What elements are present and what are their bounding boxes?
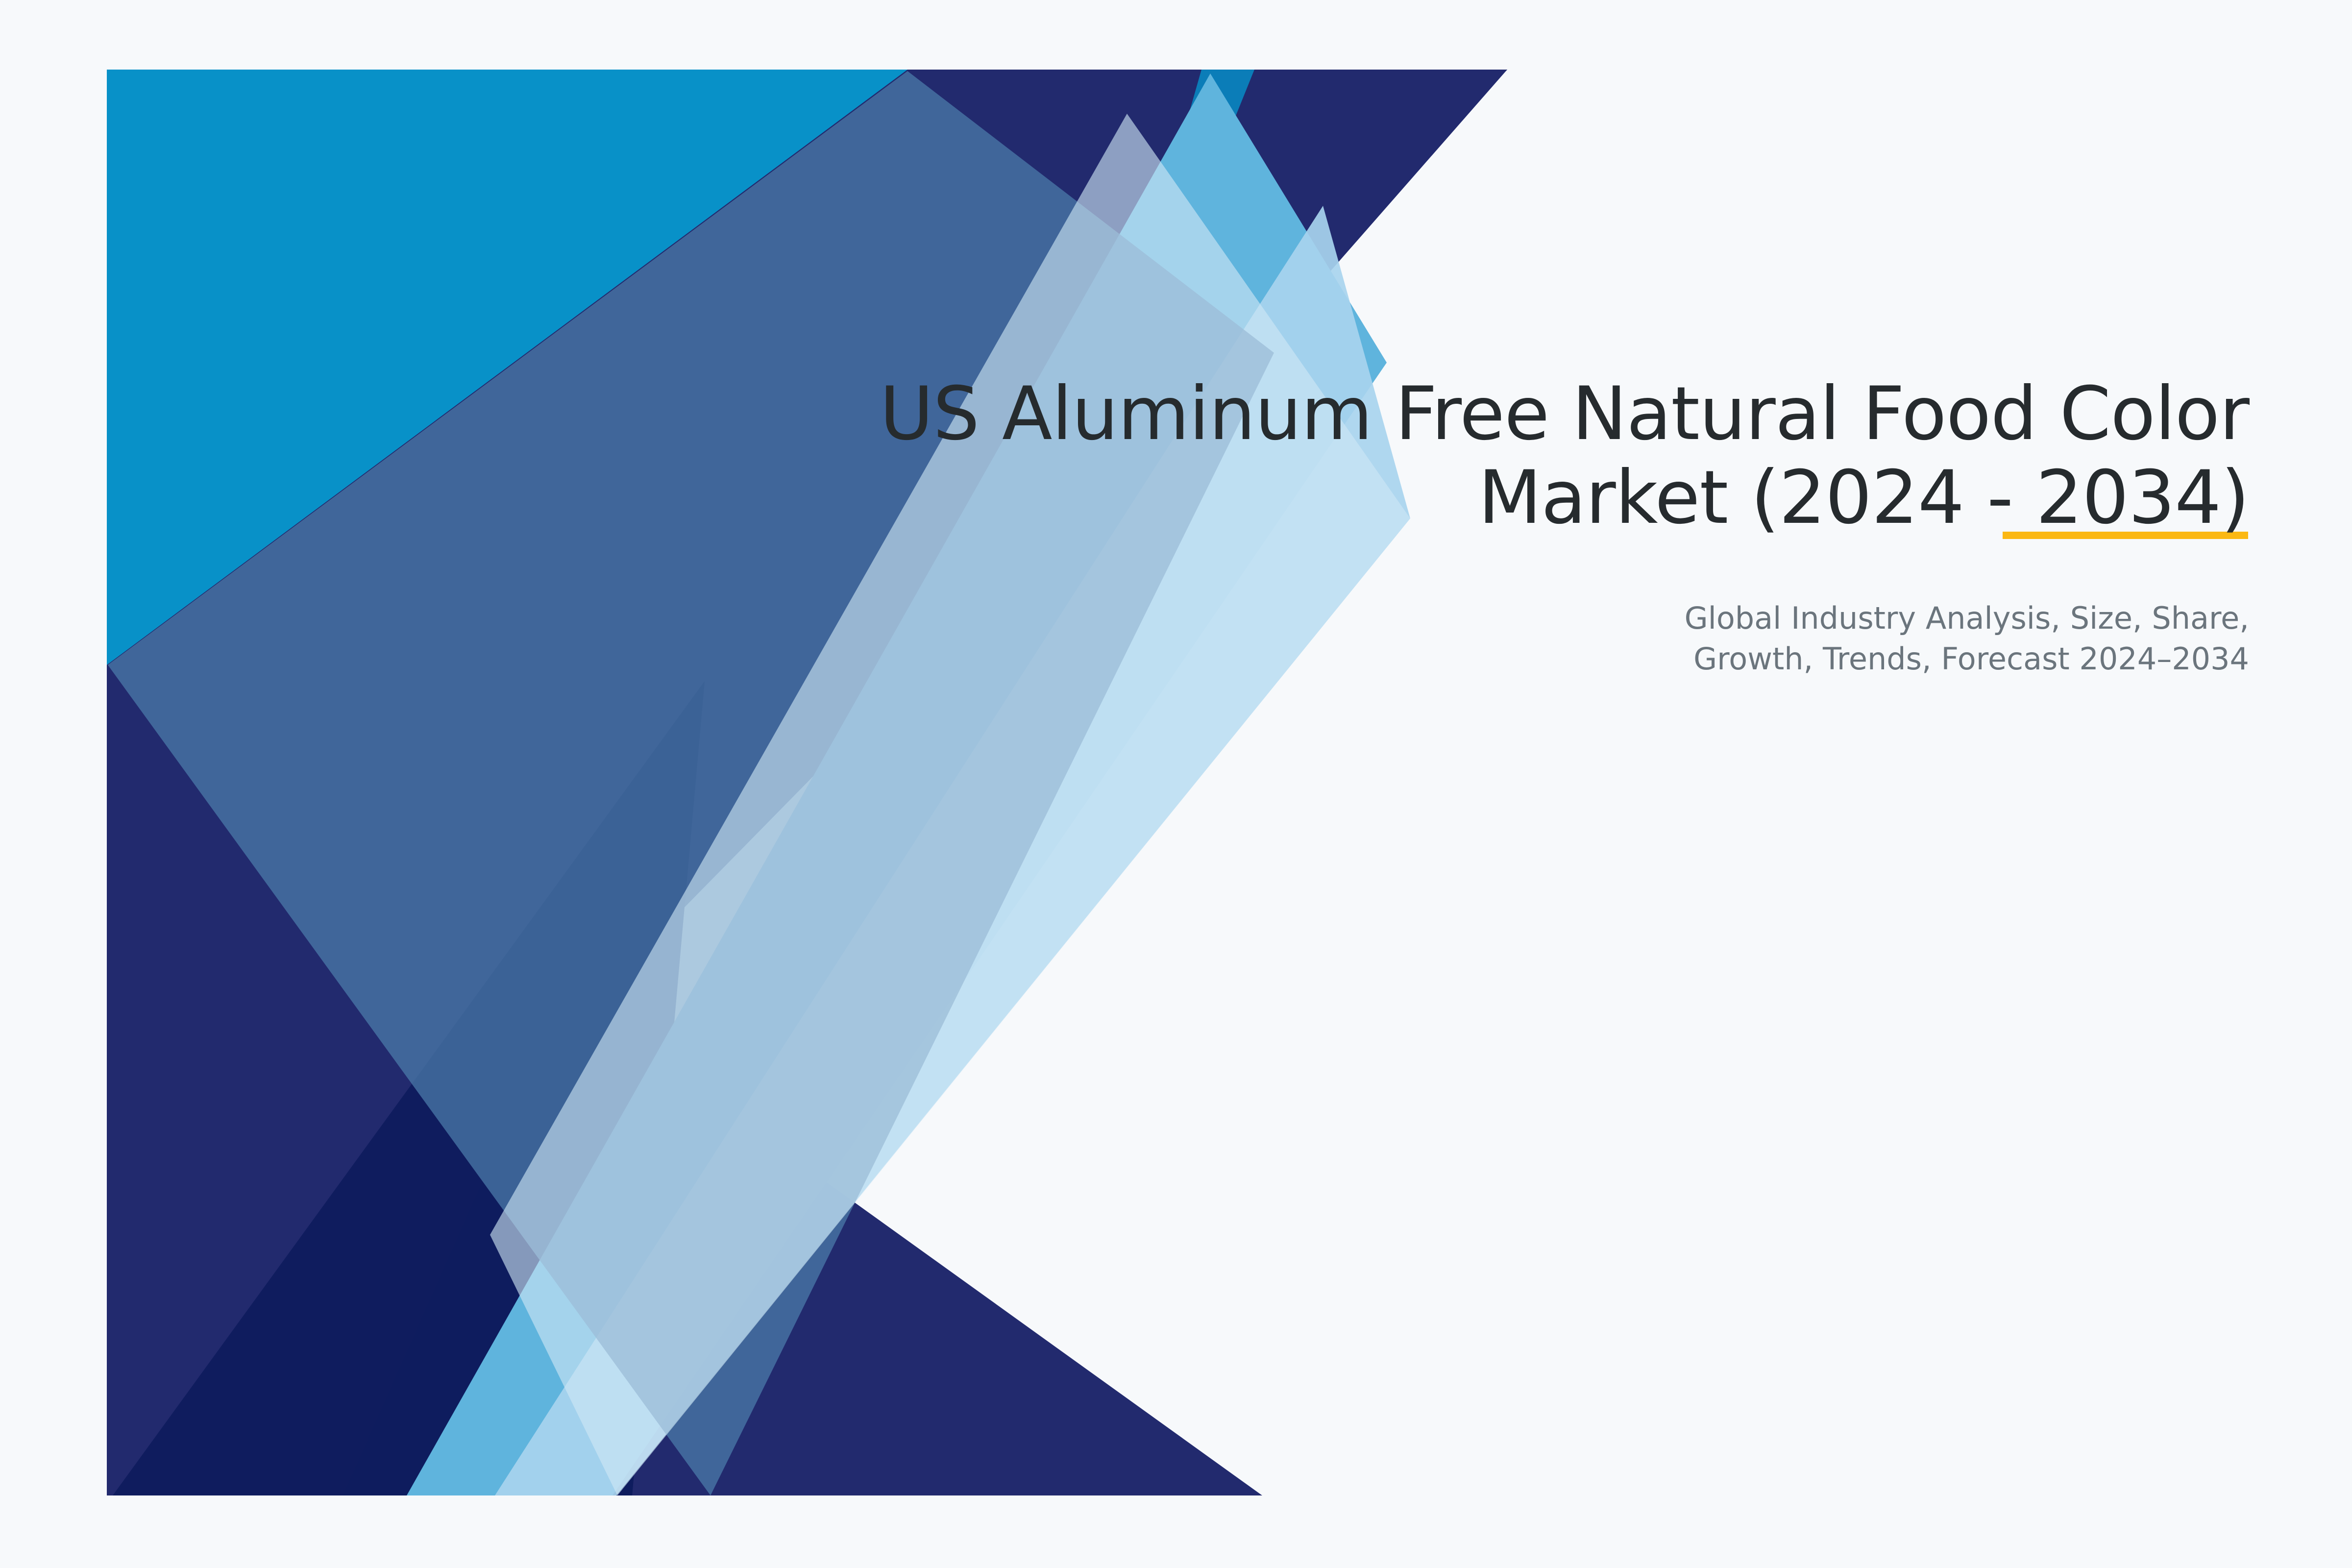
page-subtitle-line-1: Global Industry Analysis, Size, Share, bbox=[1685, 600, 2249, 636]
cyan-top-left-field bbox=[107, 70, 1507, 1495]
report-cover-page: US Aluminum Free Natural Food ColorMarke… bbox=[0, 0, 2352, 1568]
slate-blue-translucent-quad bbox=[108, 71, 1274, 1495]
navy-lower-left-mass bbox=[107, 665, 1262, 1495]
navy-diagonal-band bbox=[107, 70, 1507, 1495]
sky-blue-diagonal-ribbon bbox=[407, 73, 1387, 1495]
page-title: US Aluminum Free Natural Food ColorMarke… bbox=[686, 372, 2249, 540]
page-subtitle: Global Industry Analysis, Size, Share,Gr… bbox=[686, 540, 2249, 679]
navy-top-right-triangle bbox=[907, 70, 1507, 349]
deep-navy-spear bbox=[343, 681, 705, 1495]
cover-text-block: US Aluminum Free Natural Food ColorMarke… bbox=[686, 372, 2249, 679]
page-title-line-1: US Aluminum Free Natural Food Color bbox=[880, 371, 2249, 457]
pale-blue-overlay-quad bbox=[490, 114, 1410, 1495]
abstract-geometric-cover-graphic bbox=[0, 0, 2352, 1568]
page-title-line-2: Market (2024 - 2034) bbox=[1478, 455, 2249, 540]
deep-navy-bottom-wedge bbox=[113, 681, 705, 1495]
page-subtitle-line-2: Growth, Trends, Forecast 2024–2034 bbox=[1693, 641, 2249, 677]
